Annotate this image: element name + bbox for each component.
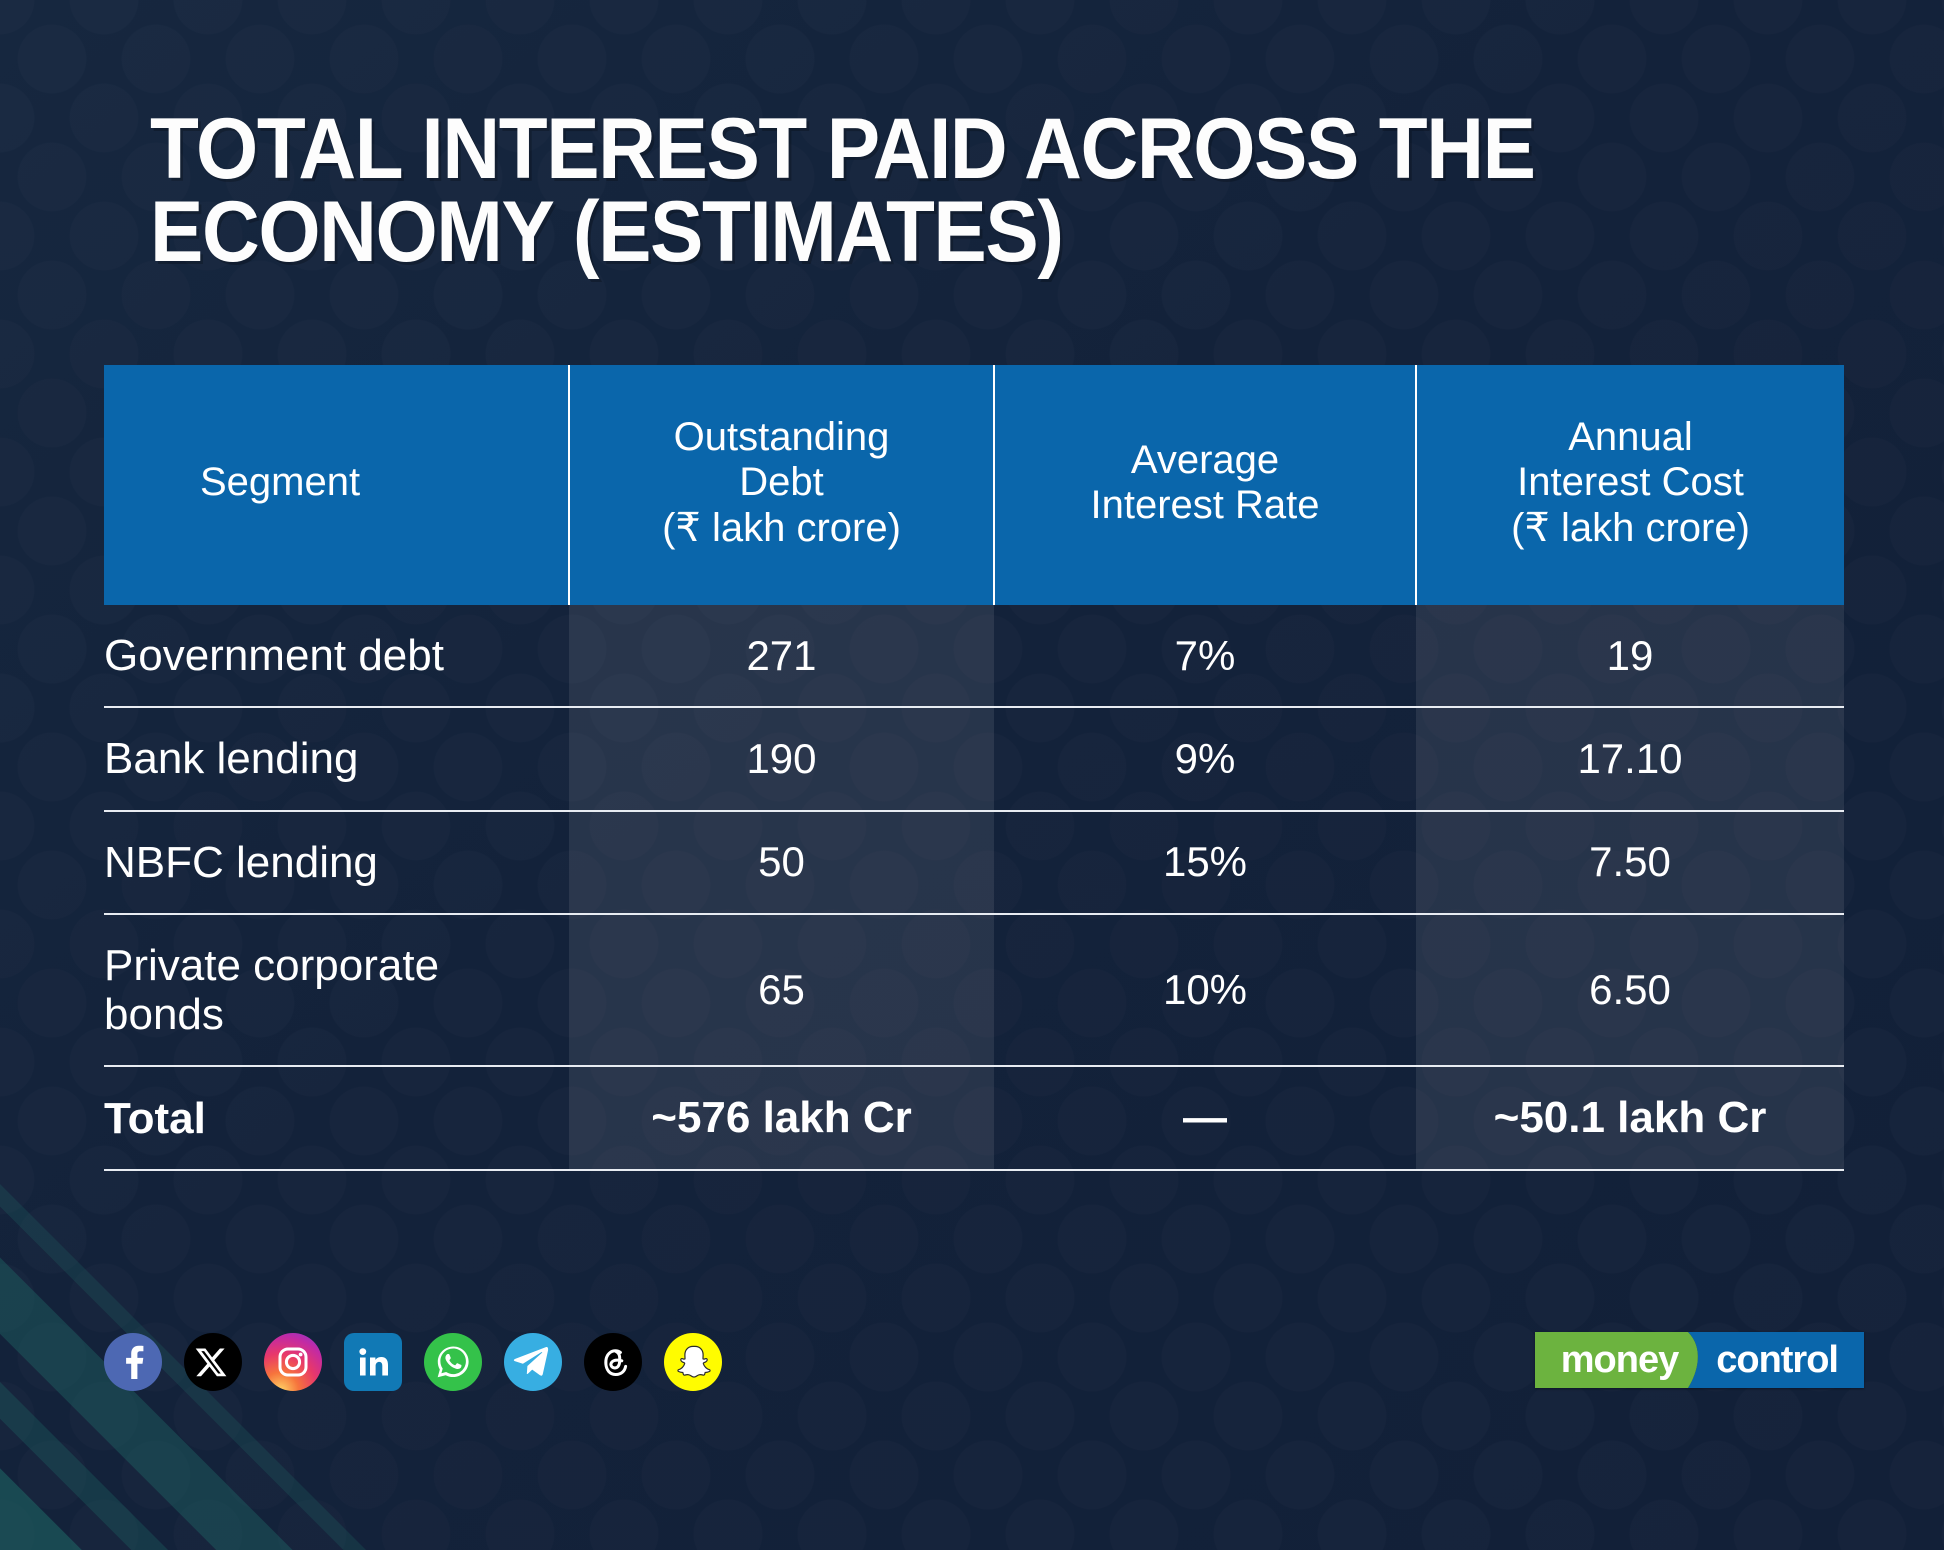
cell-average-interest-rate: 9% <box>994 707 1416 810</box>
infographic-poster: TOTAL INTEREST PAID ACROSS THE ECONOMY (… <box>0 0 1944 1550</box>
cell-outstanding-debt-total: ~576 lakh Cr <box>569 1066 994 1170</box>
cell-annual-interest-cost: 19 <box>1416 605 1844 707</box>
column-header-average-interest-rate-line-2: Interest Rate <box>1090 483 1319 527</box>
whatsapp-icon[interactable] <box>424 1333 482 1391</box>
cell-annual-interest-cost: 17.10 <box>1416 707 1844 810</box>
moneycontrol-logo-wave <box>1688 1332 1714 1388</box>
cell-average-interest-rate: 15% <box>994 811 1416 914</box>
column-header-average-interest-rate: Average Interest Rate <box>994 365 1416 605</box>
cell-segment: Private corporate bonds <box>104 914 569 1067</box>
moneycontrol-logo-money: money <box>1535 1332 1688 1388</box>
table-header: Segment Outstanding Debt (₹ lakh crore) … <box>104 365 1844 605</box>
linkedin-icon[interactable] <box>344 1333 402 1391</box>
moneycontrol-logo: money control <box>1535 1332 1864 1388</box>
table-header-row: Segment Outstanding Debt (₹ lakh crore) … <box>104 365 1844 605</box>
column-header-annual-interest-cost-unit: (₹ lakh crore) <box>1511 506 1750 550</box>
table-body: Government debt 271 7% 19 Bank lending 1… <box>104 605 1844 1170</box>
cell-annual-interest-cost: 6.50 <box>1416 914 1844 1067</box>
interest-cost-table: Segment Outstanding Debt (₹ lakh crore) … <box>104 365 1844 1171</box>
table-row: Private corporate bonds 65 10% 6.50 <box>104 914 1844 1067</box>
column-header-annual-interest-cost-line-1: Annual <box>1568 415 1693 459</box>
column-header-outstanding-debt-unit: (₹ lakh crore) <box>662 506 901 550</box>
cell-outstanding-debt: 65 <box>569 914 994 1067</box>
page-title-line-2: ECONOMY (ESTIMATES) <box>150 191 1731 274</box>
column-header-outstanding-debt: Outstanding Debt (₹ lakh crore) <box>569 365 994 605</box>
column-header-annual-interest-cost-line-2: Interest Cost <box>1517 460 1744 504</box>
page-title: TOTAL INTEREST PAID ACROSS THE ECONOMY (… <box>150 108 1731 273</box>
x-icon[interactable] <box>184 1333 242 1391</box>
moneycontrol-logo-control: control <box>1714 1332 1864 1388</box>
social-links <box>104 1333 722 1391</box>
snapchat-icon[interactable] <box>664 1333 722 1391</box>
facebook-icon[interactable] <box>104 1333 162 1391</box>
cell-outstanding-debt: 50 <box>569 811 994 914</box>
cell-average-interest-rate: 10% <box>994 914 1416 1067</box>
cell-segment: Bank lending <box>104 707 569 810</box>
instagram-icon[interactable] <box>264 1333 322 1391</box>
cell-outstanding-debt: 190 <box>569 707 994 810</box>
column-header-outstanding-debt-line-1: Outstanding <box>674 415 890 459</box>
cell-average-interest-rate-total: — <box>994 1066 1416 1170</box>
cell-segment: Government debt <box>104 605 569 707</box>
cell-segment: NBFC lending <box>104 811 569 914</box>
cell-outstanding-debt: 271 <box>569 605 994 707</box>
column-header-segment: Segment <box>104 365 569 605</box>
telegram-icon[interactable] <box>504 1333 562 1391</box>
column-header-segment-line-1: Segment <box>200 460 360 504</box>
table-row: Government debt 271 7% 19 <box>104 605 1844 707</box>
cell-average-interest-rate: 7% <box>994 605 1416 707</box>
table-row-total: Total ~576 lakh Cr — ~50.1 lakh Cr <box>104 1066 1844 1170</box>
column-header-annual-interest-cost: Annual Interest Cost (₹ lakh crore) <box>1416 365 1844 605</box>
cell-annual-interest-cost: 7.50 <box>1416 811 1844 914</box>
threads-icon[interactable] <box>584 1333 642 1391</box>
cell-segment-total: Total <box>104 1066 569 1170</box>
table-row: NBFC lending 50 15% 7.50 <box>104 811 1844 914</box>
cell-annual-interest-cost-total: ~50.1 lakh Cr <box>1416 1066 1844 1170</box>
column-header-average-interest-rate-line-1: Average <box>1131 438 1279 482</box>
table-row: Bank lending 190 9% 17.10 <box>104 707 1844 810</box>
column-header-outstanding-debt-line-2: Debt <box>739 460 824 504</box>
page-title-line-1: TOTAL INTEREST PAID ACROSS THE <box>150 101 1535 197</box>
